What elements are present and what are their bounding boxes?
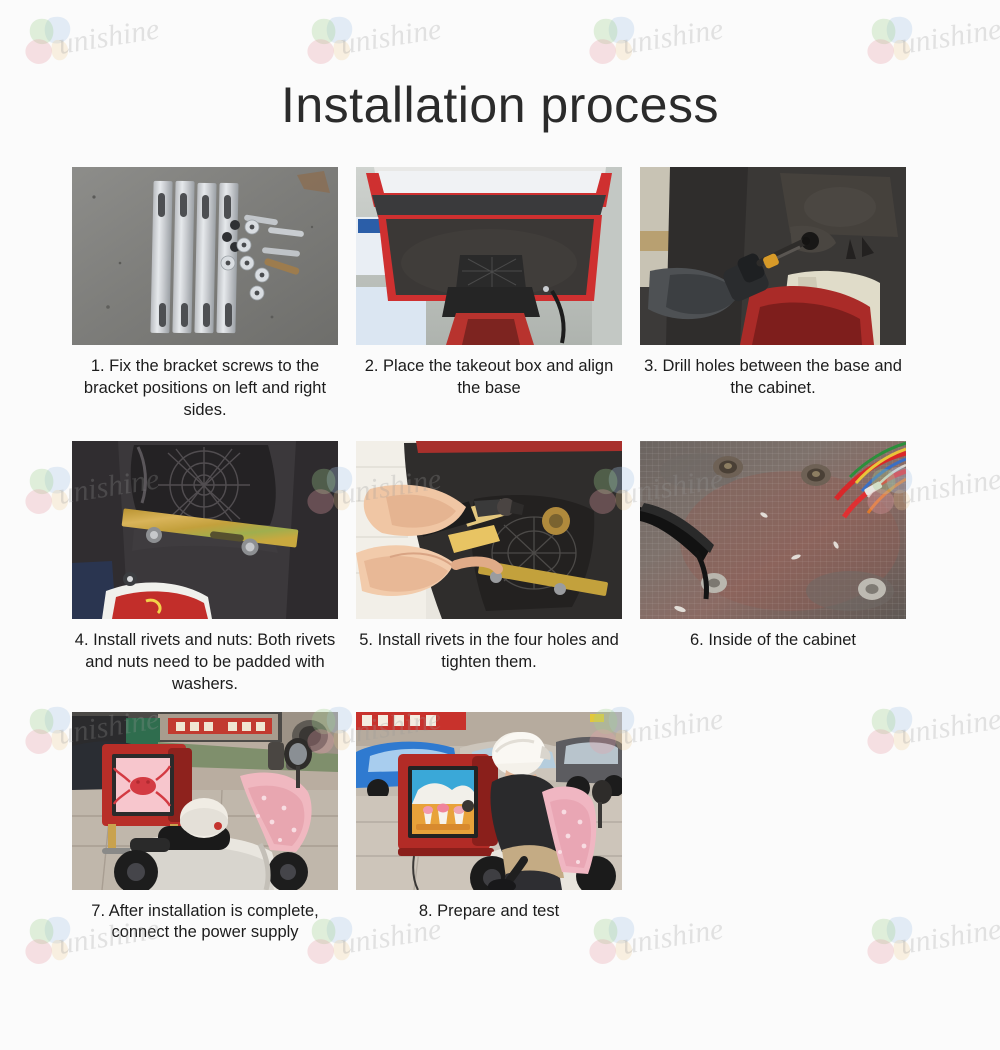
step-card-5: 5. Install rivets in the four holes and … — [356, 441, 622, 695]
step-card-7: 7. After installation is complete, conne… — [72, 712, 338, 945]
step-5-photo — [356, 441, 622, 619]
step-card-6: 6. Inside of the cabinet — [640, 441, 906, 695]
step-7-caption: 7. After installation is complete, conne… — [74, 901, 336, 945]
steps-row-1: 1. Fix the bracket screws to the bracket… — [72, 167, 928, 421]
step-card-empty — [640, 712, 906, 945]
step-3-photo — [640, 167, 906, 345]
step-card-2: 2. Place the takeout box and align the b… — [356, 167, 622, 421]
step-1-caption: 1. Fix the bracket screws to the bracket… — [74, 356, 336, 421]
step-4-photo — [72, 441, 338, 619]
step-2-photo — [356, 167, 622, 345]
step-8-caption: 8. Prepare and test — [358, 901, 620, 925]
step-card-4: 4. Install rivets and nuts: Both rivets … — [72, 441, 338, 695]
step-4-caption: 4. Install rivets and nuts: Both rivets … — [74, 630, 336, 695]
step-2-caption: 2. Place the takeout box and align the b… — [358, 356, 620, 400]
step-8-photo — [356, 712, 622, 890]
step-6-photo — [640, 441, 906, 619]
step-5-caption: 5. Install rivets in the four holes and … — [358, 630, 620, 674]
step-1-photo — [72, 167, 338, 345]
step-card-3: 3. Drill holes between the base and the … — [640, 167, 906, 421]
step-3-caption: 3. Drill holes between the base and the … — [642, 356, 904, 400]
installation-steps-grid: 1. Fix the bracket screws to the bracket… — [0, 167, 1000, 944]
step-7-photo — [72, 712, 338, 890]
steps-row-2: 4. Install rivets and nuts: Both rivets … — [72, 441, 928, 695]
step-6-caption: 6. Inside of the cabinet — [642, 630, 904, 654]
step-card-8: 8. Prepare and test — [356, 712, 622, 945]
step-card-1: 1. Fix the bracket screws to the bracket… — [72, 167, 338, 421]
steps-row-3: 7. After installation is complete, conne… — [72, 712, 928, 945]
page-title: Installation process — [0, 0, 1000, 133]
